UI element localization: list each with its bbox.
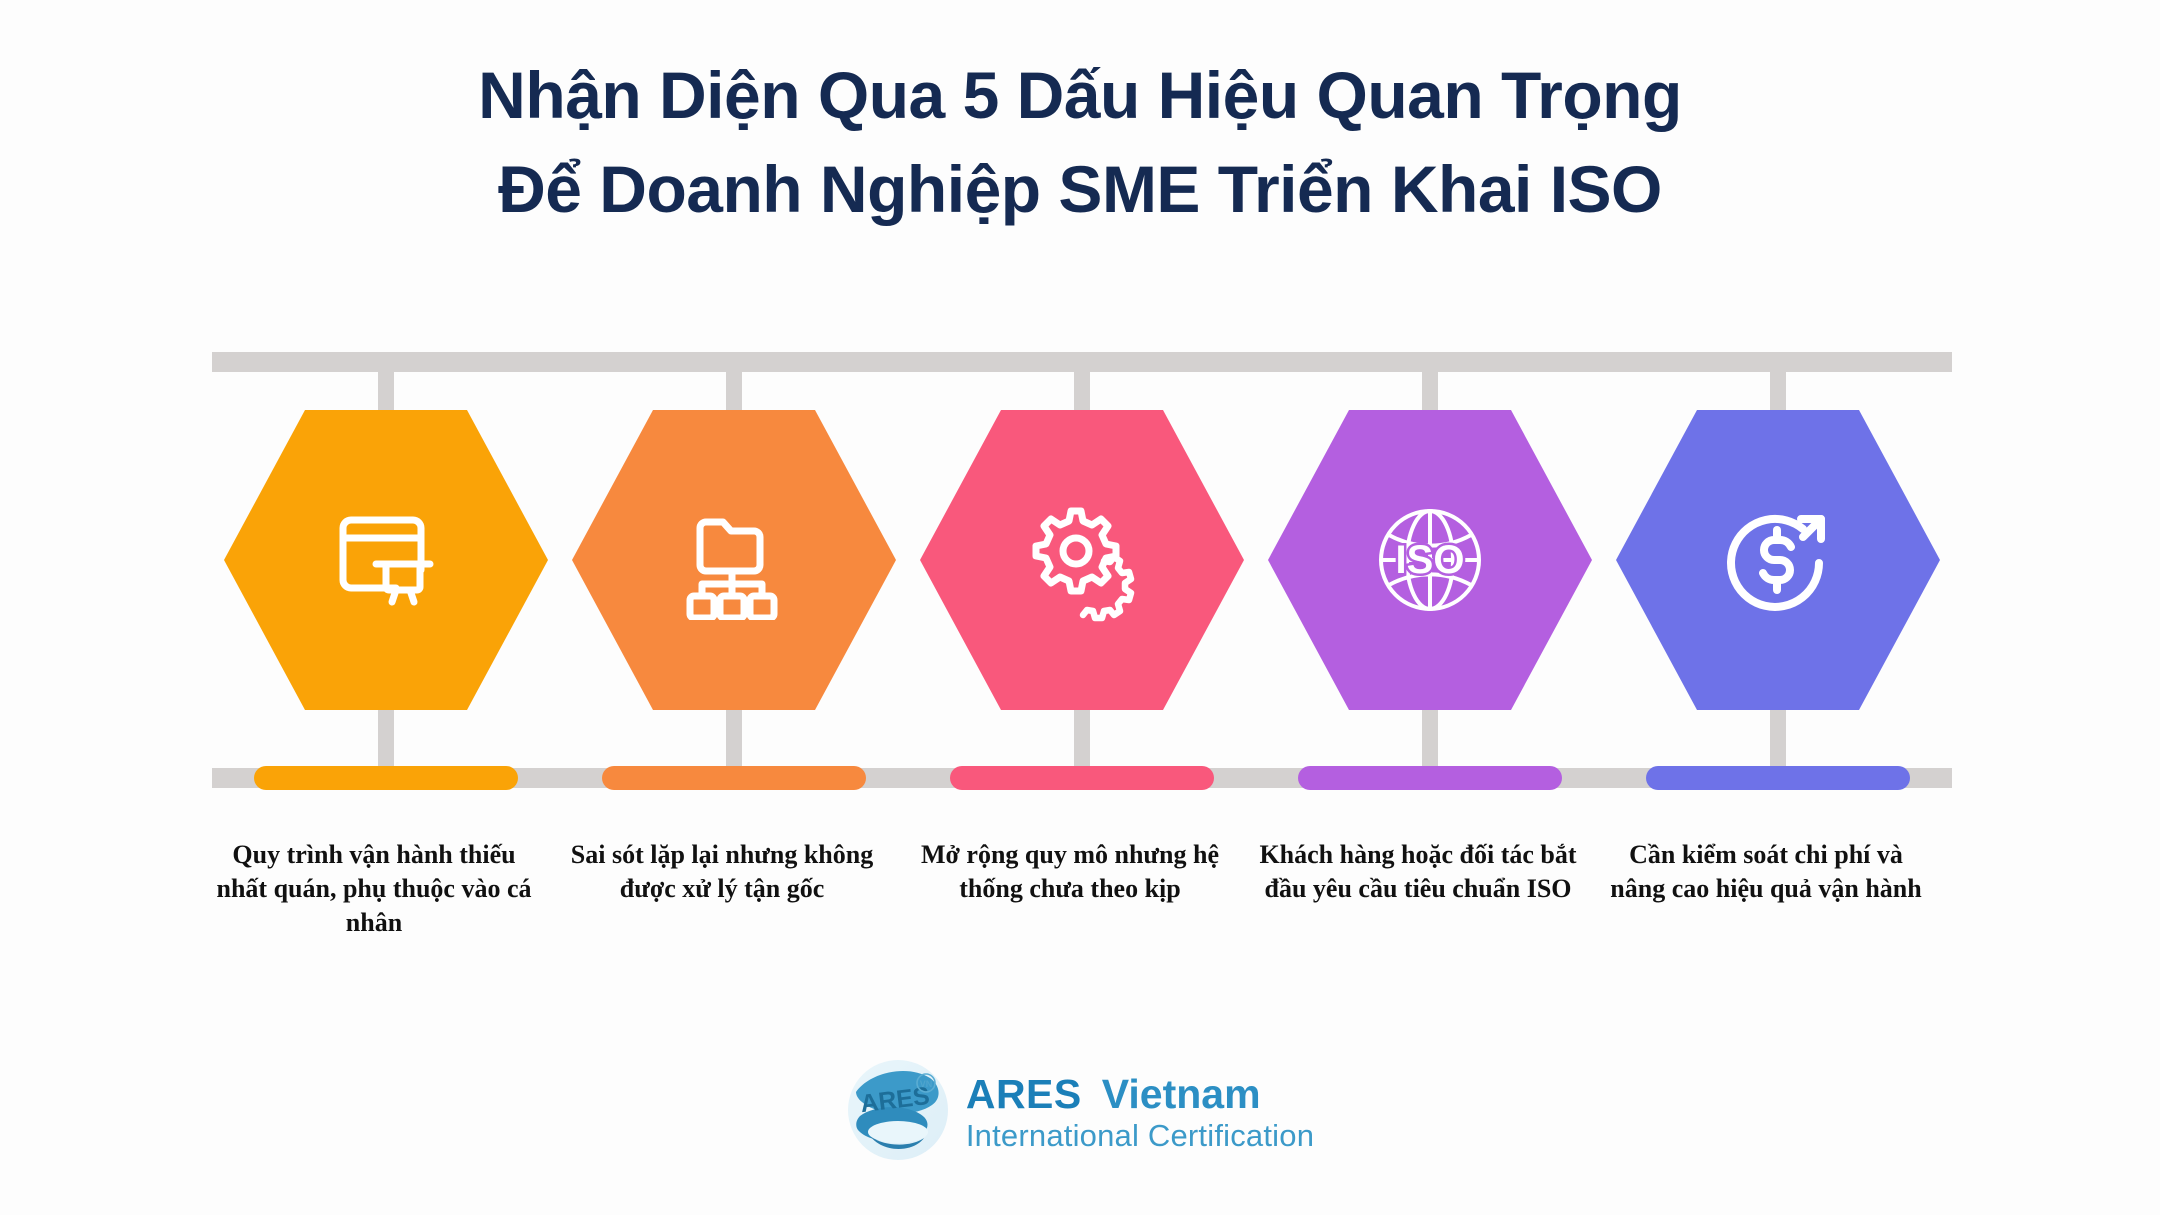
timeline-step-4-hexagon[interactable]: ISO	[1268, 410, 1592, 710]
infographic-page: Nhận Diện Qua 5 Dấu Hiệu Quan Trọng Để D…	[0, 0, 2160, 1215]
svg-text:VN: VN	[920, 1079, 933, 1089]
gears-icon	[1020, 498, 1144, 622]
ares-logo-mark: ARES VN	[846, 1058, 950, 1167]
timeline-step-1-caption: Quy trình vận hành thiếu nhất quán, phụ …	[209, 838, 539, 940]
timeline-pill-4	[1298, 766, 1562, 790]
timeline-step-3-hexagon[interactable]	[920, 410, 1244, 710]
page-title: Nhận Diện Qua 5 Dấu Hiệu Quan Trọng Để D…	[0, 48, 2160, 236]
svg-text:ISO: ISO	[1396, 538, 1465, 582]
ares-logo-text: ARESVietnam International Certification	[966, 1071, 1314, 1155]
ares-logo: ARES VN ARESVietnam International Certif…	[0, 1058, 2160, 1167]
timeline-step-5-hexagon[interactable]	[1616, 410, 1940, 710]
timeline-pill-3	[950, 766, 1214, 790]
timeline-step-1-hexagon[interactable]	[224, 410, 548, 710]
title-line-1: Nhận Diện Qua 5 Dấu Hiệu Quan Trọng	[0, 48, 2160, 142]
ares-logo-brand: ARES	[966, 1071, 1082, 1117]
presentation-board-icon	[326, 500, 446, 620]
timeline-pill-1	[254, 766, 518, 790]
globe-iso-icon: ISO	[1367, 497, 1493, 623]
timeline-step-3-caption: Mở rộng quy mô nhưng hệ thống chưa theo …	[905, 838, 1235, 906]
timeline-step-2-hexagon[interactable]	[572, 410, 896, 710]
ares-logo-title: ARESVietnam	[966, 1071, 1314, 1117]
timeline-pill-5	[1646, 766, 1910, 790]
folder-hierarchy-icon	[674, 500, 794, 620]
timeline-pill-2	[602, 766, 866, 790]
ares-logo-country: Vietnam	[1102, 1071, 1261, 1117]
title-line-2: Để Doanh Nghiệp SME Triển Khai ISO	[0, 142, 2160, 236]
ares-logo-tagline: International Certification	[966, 1117, 1314, 1155]
timeline-step-5-caption: Cần kiểm soát chi phí và nâng cao hiệu q…	[1601, 838, 1931, 906]
dollar-growth-icon	[1717, 499, 1839, 621]
timeline-step-4-caption: Khách hàng hoặc đối tác bắt đầu yêu cầu …	[1253, 838, 1583, 906]
timeline: ISO	[212, 352, 1952, 802]
timeline-step-2-caption: Sai sót lặp lại nhưng không được xử lý t…	[557, 838, 887, 906]
